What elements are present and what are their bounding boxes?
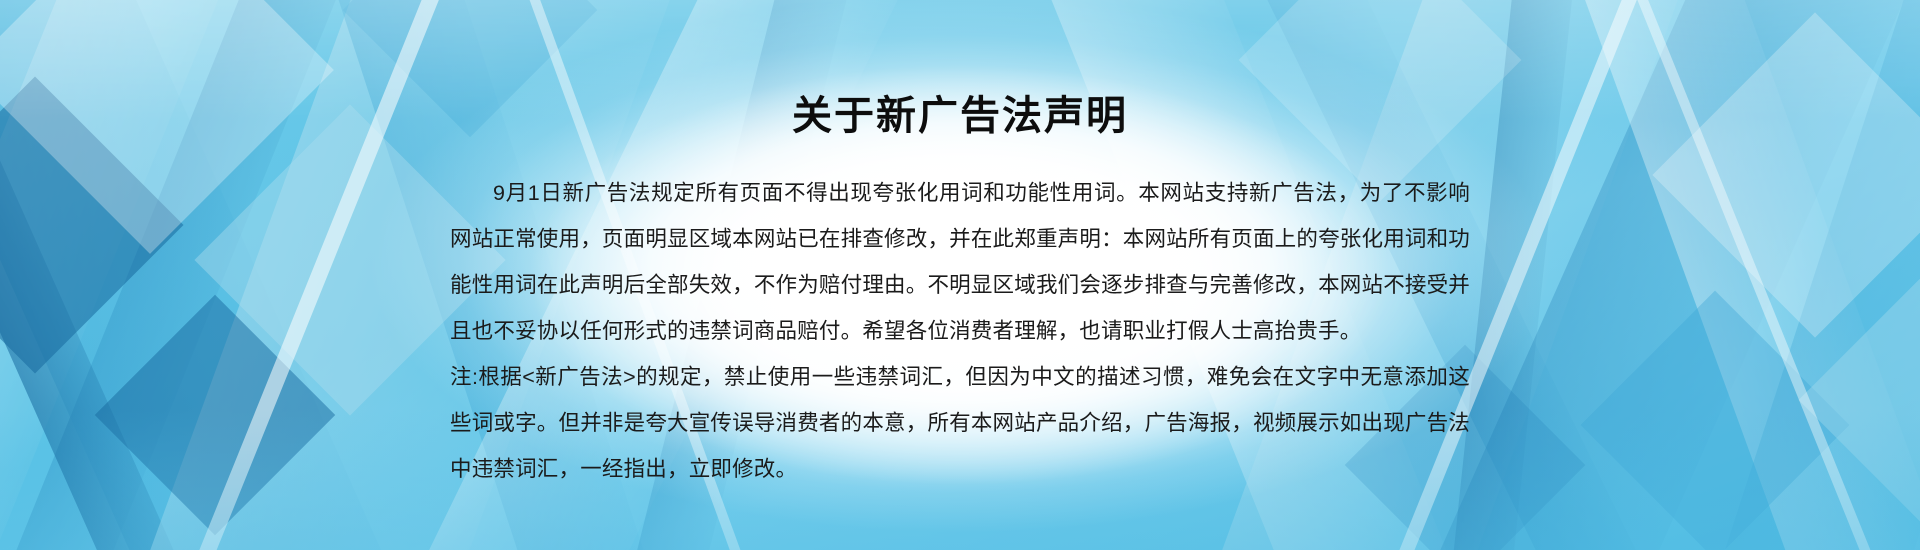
background-band-4	[0, 0, 269, 550]
advertising-law-statement-banner: 关于新广告法声明 9月1日新广告法规定所有页面不得出现夸张化用词和功能性用词。本…	[0, 0, 1920, 550]
note-paragraph: 注:根据<新广告法>的规定，禁止使用一些违禁词汇，但因为中文的描述习惯，难免会在…	[450, 354, 1470, 492]
background-highlight-4	[1565, 0, 1920, 550]
background-facet-2	[95, 295, 335, 535]
background-band-1	[0, 0, 280, 550]
background-facet-3	[0, 0, 334, 254]
background-band-3	[0, 0, 463, 550]
statement-content: 关于新广告法声明 9月1日新广告法规定所有页面不得出现夸张化用词和功能性用词。本…	[450, 0, 1470, 550]
background-facet-7	[1799, 259, 1920, 542]
background-band-13	[1526, 0, 1920, 550]
statement-paragraph: 9月1日新广告法规定所有页面不得出现夸张化用词和功能性用词。本网站支持新广告法，…	[450, 170, 1470, 354]
background-facet-1	[0, 77, 183, 374]
background-band-14	[1653, 0, 1920, 550]
background-facet-5	[1652, 12, 1920, 337]
background-band-2	[0, 0, 402, 550]
page-title: 关于新广告法声明	[450, 0, 1470, 140]
background-facet-6	[1581, 291, 1850, 550]
